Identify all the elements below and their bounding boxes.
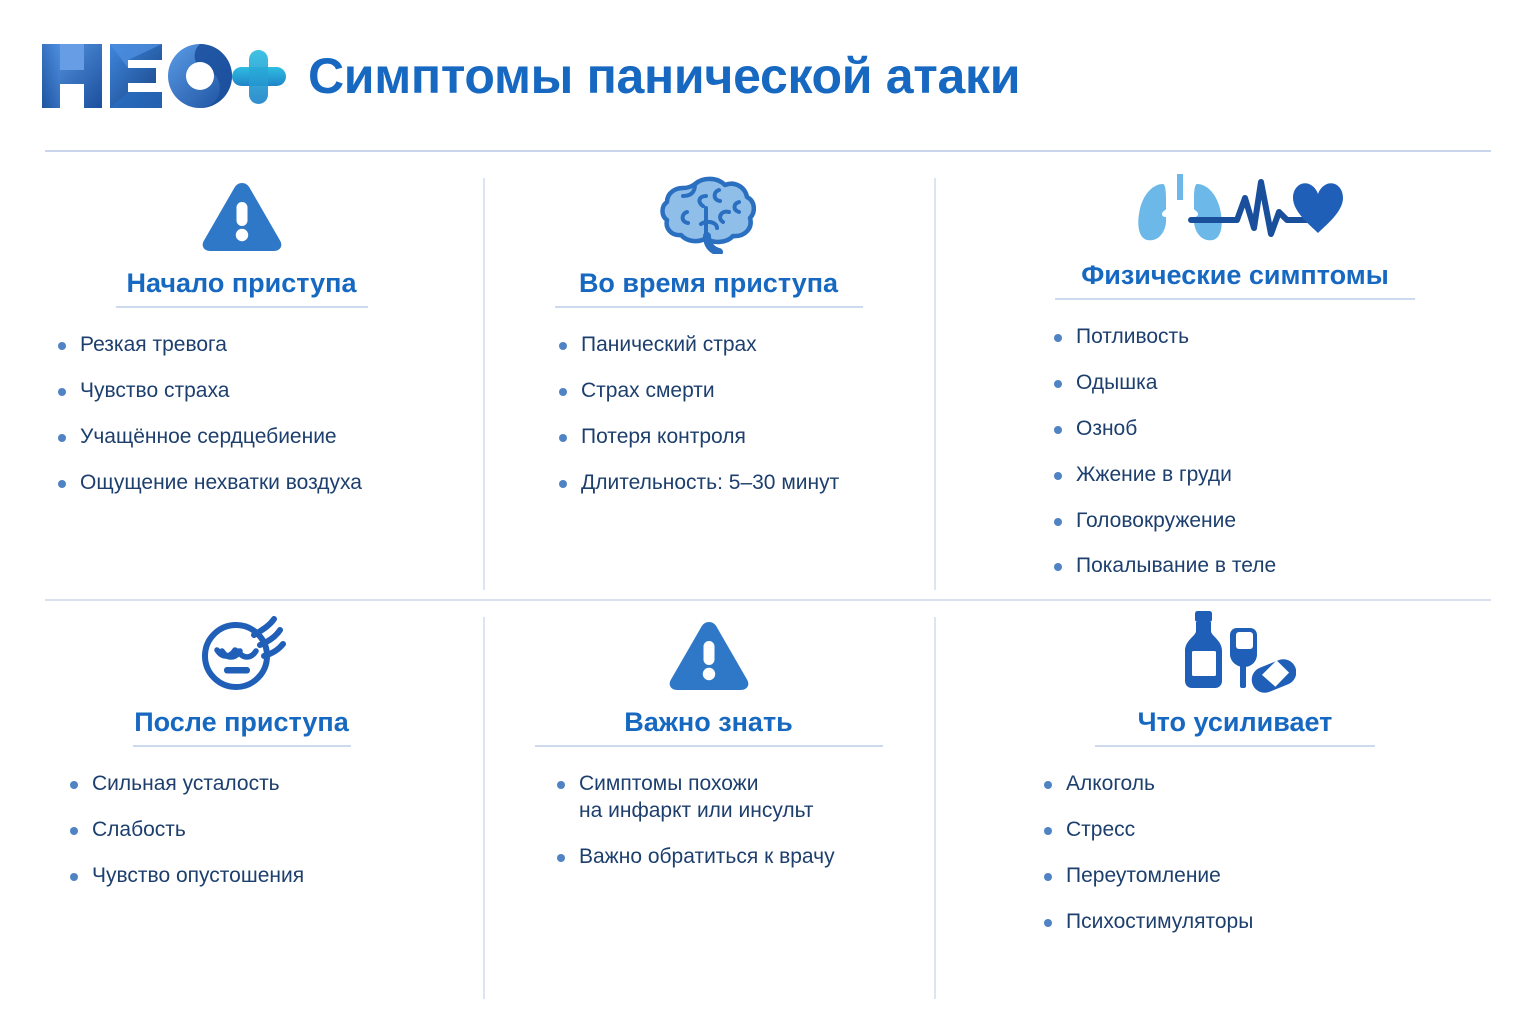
lungs-heartbeat-heart-icon (1115, 168, 1355, 246)
symptom-list: Сильная усталость Слабость Чувство опуст… (66, 771, 304, 909)
list-item: Психостимуляторы (1040, 909, 1253, 936)
cards-row-top: Начало приступа Резкая тревога Чувство с… (0, 168, 1536, 598)
card-nachalo-pristupa[interactable]: Начало приступа Резкая тревога Чувство с… (0, 168, 483, 598)
infographic-page: Симптомы панической атаки Начало прис (0, 0, 1536, 1024)
list-item: Симптомы похожи на инфаркт или инсульт (553, 771, 835, 825)
cards-grid: Начало приступа Резкая тревога Чувство с… (0, 160, 1536, 1024)
list-item: Чувство опустошения (66, 863, 304, 890)
title-underline (133, 745, 351, 747)
tired-face-icon (196, 607, 288, 693)
list-item: Панический страх (555, 332, 839, 359)
card-chto-usilivaet[interactable]: Что усиливает Алкоголь Стресс Переутомле… (934, 607, 1536, 1007)
warning-triangle-icon (668, 607, 750, 693)
page-title: Симптомы панической атаки (308, 51, 1020, 101)
title-underline (555, 306, 863, 308)
list-item: Потеря контроля (555, 424, 839, 451)
card-title: Начало приступа (116, 268, 368, 299)
bottle-glass-pill-icon (1174, 607, 1296, 693)
symptom-list: Панический страх Страх смерти Потеря кон… (555, 332, 839, 516)
card-vazhno-znat[interactable]: Важно знать Симптомы похожи на инфаркт и… (483, 607, 934, 1007)
brain-icon (657, 168, 761, 254)
list-item: Алкоголь (1040, 771, 1253, 798)
card-vo-vremya-pristupa[interactable]: Во время приступа Панический страх Страх… (483, 168, 934, 598)
row-divider (45, 599, 1491, 601)
title-underline (1095, 745, 1375, 747)
card-title-block: Важно знать (535, 707, 883, 747)
card-title: Физические симптомы (1055, 260, 1415, 291)
warning-triangle-icon (201, 168, 283, 254)
card-title-block: Начало приступа (116, 268, 368, 308)
header-divider (45, 150, 1491, 152)
symptom-list: Резкая тревога Чувство страха Учащённое … (54, 332, 362, 516)
list-item: Учащённое сердцебиение (54, 424, 362, 451)
card-title: Что усиливает (1095, 707, 1375, 738)
card-title: После приступа (133, 707, 351, 738)
list-item: Покалывание в теле (1050, 553, 1276, 580)
card-title-block: После приступа (133, 707, 351, 747)
list-item: Одышка (1050, 370, 1276, 397)
list-item: Озноб (1050, 416, 1276, 443)
symptom-list: Симптомы похожи на инфаркт или инсульт В… (553, 771, 835, 890)
list-item: Потливость (1050, 324, 1276, 351)
card-fizicheskie-simptomy[interactable]: Физические симптомы Потливость Одышка Оз… (934, 168, 1536, 598)
list-item: Ощущение нехватки воздуха (54, 470, 362, 497)
title-underline (535, 745, 883, 747)
card-title-block: Что усиливает (1095, 707, 1375, 747)
list-item: Жжение в груди (1050, 462, 1276, 489)
list-item: Длительность: 5–30 минут (555, 470, 839, 497)
list-item: Чувство страха (54, 378, 362, 405)
list-item: Головокружение (1050, 508, 1276, 535)
list-item: Страх смерти (555, 378, 839, 405)
list-item: Стресс (1040, 817, 1253, 844)
card-title-block: Во время приступа (555, 268, 863, 308)
title-underline (116, 306, 368, 308)
card-title: Важно знать (535, 707, 883, 738)
symptom-list: Потливость Одышка Озноб Жжение в груди Г… (1050, 324, 1276, 599)
card-title: Во время приступа (555, 268, 863, 299)
card-posle-pristupa[interactable]: После приступа Сильная усталость Слабост… (0, 607, 483, 1007)
list-item: Переутомление (1040, 863, 1253, 890)
list-item: Резкая тревога (54, 332, 362, 359)
neo-plus-logo-icon (40, 40, 288, 112)
cards-row-bottom: После приступа Сильная усталость Слабост… (0, 607, 1536, 1007)
brand-logo[interactable] (40, 37, 288, 115)
card-title-block: Физические симптомы (1055, 260, 1415, 300)
list-item: Сильная усталость (66, 771, 304, 798)
title-underline (1055, 298, 1415, 300)
header: Симптомы панической атаки (0, 0, 1536, 152)
symptom-list: Алкоголь Стресс Переутомление Психостиму… (1040, 771, 1253, 955)
list-item: Важно обратиться к врачу (553, 844, 835, 871)
list-item: Слабость (66, 817, 304, 844)
